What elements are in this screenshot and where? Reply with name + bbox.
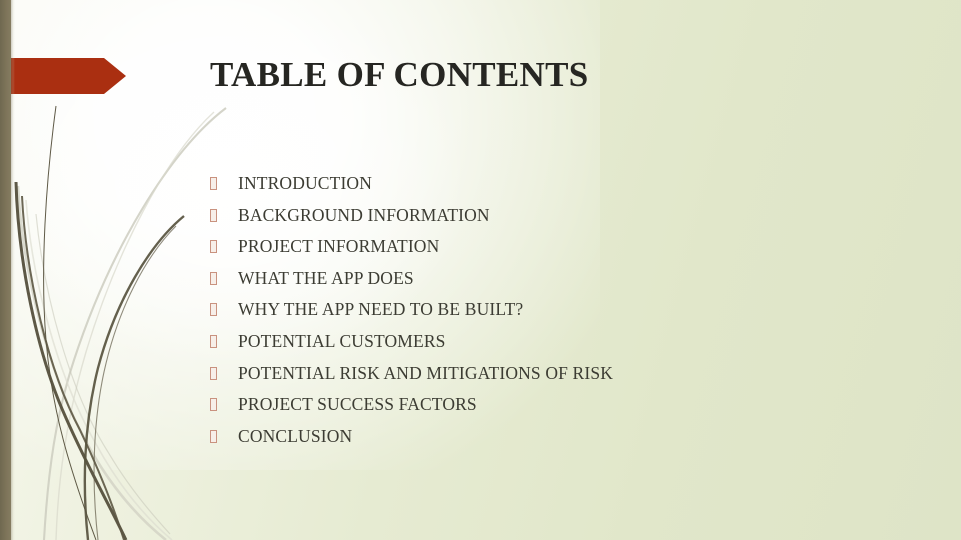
list-item-label: WHY THE APP NEED TO BE BUILT?	[238, 294, 523, 326]
hollow-rectangle-bullet-icon	[210, 240, 217, 253]
list-item[interactable]: BACKGROUND INFORMATION	[206, 200, 846, 232]
list-item-label: BACKGROUND INFORMATION	[238, 200, 490, 232]
red-arrow-banner	[0, 58, 126, 94]
olive-side-strip	[0, 0, 11, 540]
hollow-rectangle-bullet-icon	[210, 430, 217, 443]
hollow-rectangle-bullet-icon	[210, 398, 217, 411]
table-of-contents-list: INTRODUCTION BACKGROUND INFORMATION PROJ…	[206, 168, 846, 452]
list-item-label: PROJECT SUCCESS FACTORS	[238, 389, 477, 421]
hollow-rectangle-bullet-icon	[210, 272, 217, 285]
list-item-label: POTENTIAL CUSTOMERS	[238, 326, 446, 358]
list-item[interactable]: PROJECT SUCCESS FACTORS	[206, 389, 846, 421]
hollow-rectangle-bullet-icon	[210, 209, 217, 222]
list-item-label: WHAT THE APP DOES	[238, 263, 414, 295]
olive-side-strip-edge	[11, 0, 15, 540]
list-item-label: INTRODUCTION	[238, 168, 372, 200]
list-item[interactable]: POTENTIAL CUSTOMERS	[206, 326, 846, 358]
hollow-rectangle-bullet-icon	[210, 177, 217, 190]
list-item[interactable]: WHAT THE APP DOES	[206, 263, 846, 295]
hollow-rectangle-bullet-icon	[210, 303, 217, 316]
hollow-rectangle-bullet-icon	[210, 335, 217, 348]
list-item[interactable]: PROJECT INFORMATION	[206, 231, 846, 263]
page-title: TABLE OF CONTENTS	[210, 55, 589, 95]
list-item-label: CONCLUSION	[238, 421, 352, 453]
list-item[interactable]: POTENTIAL RISK AND MITIGATIONS OF RISK	[206, 358, 846, 390]
hollow-rectangle-bullet-icon	[210, 367, 217, 380]
list-item[interactable]: CONCLUSION	[206, 421, 846, 453]
list-item[interactable]: INTRODUCTION	[206, 168, 846, 200]
list-item-label: POTENTIAL RISK AND MITIGATIONS OF RISK	[238, 358, 613, 390]
list-item-label: PROJECT INFORMATION	[238, 231, 439, 263]
slide-canvas: TABLE OF CONTENTS INTRODUCTION BACKGROUN…	[0, 0, 961, 540]
list-item[interactable]: WHY THE APP NEED TO BE BUILT?	[206, 294, 846, 326]
